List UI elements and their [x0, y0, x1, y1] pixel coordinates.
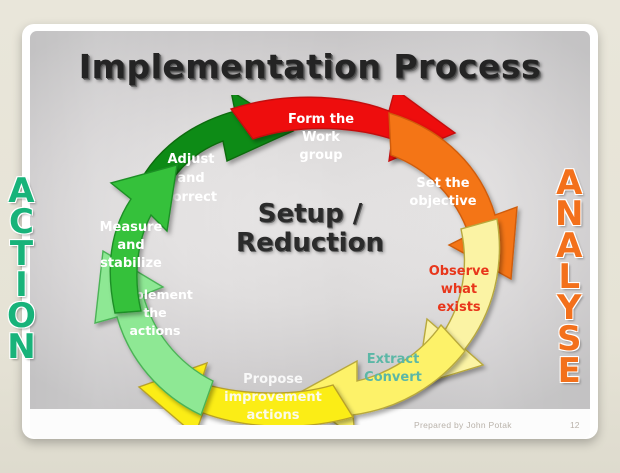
- footer-page-number: 12: [570, 420, 579, 430]
- footer-credit: Prepared by John Potak: [414, 420, 512, 430]
- slide-screenshot: Implementation Process A C T I O N A N A…: [0, 0, 620, 473]
- implementation-process-cycle-diagram: Adjust and correct Form the Work group S…: [45, 95, 575, 425]
- label-form-work-group-2: Work: [302, 130, 340, 145]
- label-propose-improvement-actions-1: Propose: [243, 372, 303, 387]
- action-letter-n: N: [7, 332, 35, 363]
- page-title: Implementation Process: [0, 47, 620, 86]
- label-form-work-group-3: group: [299, 148, 342, 163]
- left-vertical-word-action: A C T I O N: [7, 176, 36, 364]
- label-adjust-and-correct-2: and: [177, 171, 204, 186]
